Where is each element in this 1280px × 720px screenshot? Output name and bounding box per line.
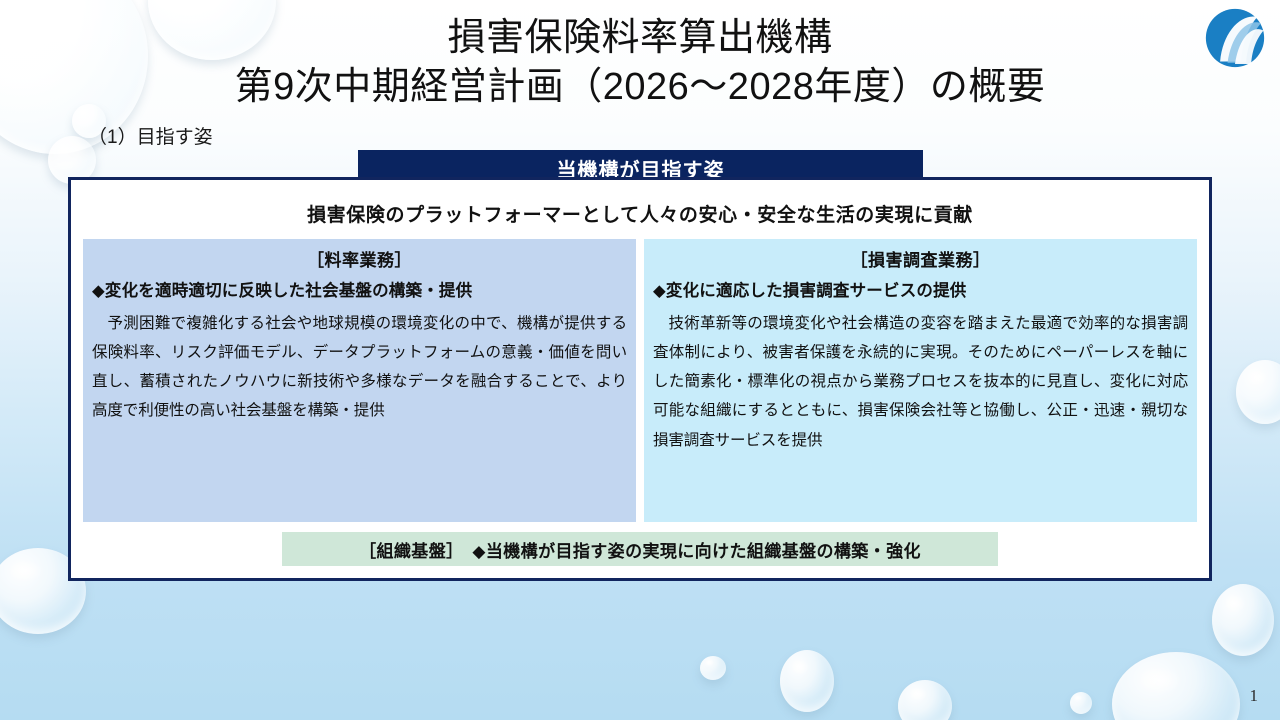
bubble-icon bbox=[1236, 360, 1280, 424]
column-body: 技術革新等の環境変化や社会構造の変容を踏まえた最適で効率的な損害調査体制により、… bbox=[653, 309, 1188, 455]
column-bullet: ◆変化を適時適切に反映した社会基盤の構築・提供 bbox=[92, 277, 627, 301]
bubble-icon bbox=[700, 656, 726, 680]
bubble-icon bbox=[1212, 584, 1274, 656]
column-title: ［損害調査業務］ bbox=[653, 246, 1188, 271]
section-label: （1）目指す姿 bbox=[88, 122, 213, 149]
title-line-1: 損害保険料率算出機構 bbox=[0, 14, 1280, 63]
vision-headline: 損害保険のプラットフォーマーとして人々の安心・安全な生活の実現に貢献 bbox=[83, 190, 1197, 239]
vision-columns: ［料率業務］ ◆変化を適時適切に反映した社会基盤の構築・提供 予測困難で複雑化す… bbox=[83, 239, 1197, 522]
slide-title: 損害保険料率算出機構 第9次中期経営計画（2026〜2028年度）の概要 bbox=[0, 14, 1280, 113]
title-line-2: 第9次中期経営計画（2026〜2028年度）の概要 bbox=[0, 63, 1280, 112]
bubble-icon bbox=[1112, 652, 1240, 720]
column-loss-survey-business: ［損害調査業務］ ◆変化に適応した損害調査サービスの提供 技術革新等の環境変化や… bbox=[644, 239, 1197, 522]
column-title: ［料率業務］ bbox=[92, 246, 627, 271]
bubble-icon bbox=[898, 680, 952, 720]
slide-root: 損害保険料率算出機構 第9次中期経営計画（2026〜2028年度）の概要 （1）… bbox=[0, 0, 1280, 720]
vision-content-box: 損害保険のプラットフォーマーとして人々の安心・安全な生活の実現に貢献 ［料率業務… bbox=[68, 177, 1212, 581]
organizational-foundation-band: ［組織基盤］ ◆当機構が目指す姿の実現に向けた組織基盤の構築・強化 bbox=[282, 532, 998, 566]
column-bullet: ◆変化に適応した損害調査サービスの提供 bbox=[653, 277, 1188, 301]
column-body: 予測困難で複雑化する社会や地球規模の環境変化の中で、機構が提供する保険料率、リス… bbox=[92, 309, 627, 426]
bubble-icon bbox=[780, 650, 834, 712]
column-rate-business: ［料率業務］ ◆変化を適時適切に反映した社会基盤の構築・提供 予測困難で複雑化す… bbox=[83, 239, 636, 522]
page-number: 1 bbox=[1250, 686, 1259, 706]
bubble-icon bbox=[1070, 692, 1092, 714]
